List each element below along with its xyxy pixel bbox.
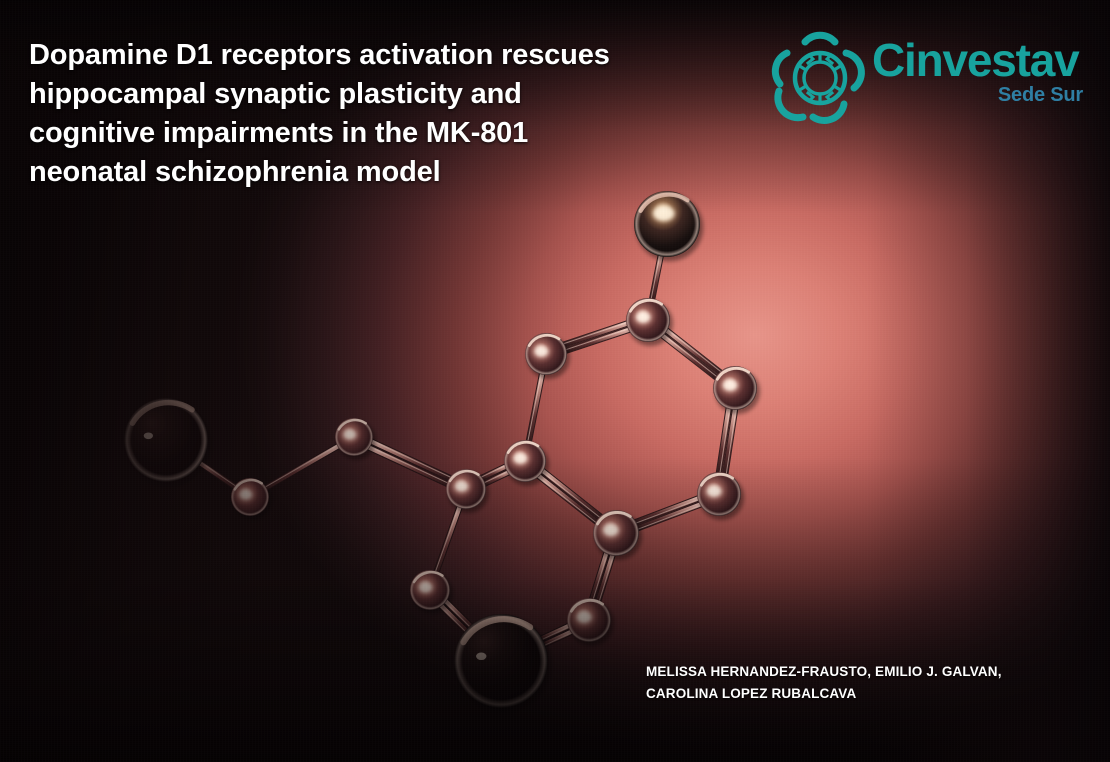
title-line-2: hippocampal synaptic plasticity and	[29, 75, 729, 114]
presentation-title-slide: Dopamine D1 receptors activation rescues…	[0, 0, 1110, 762]
cinvestav-logo: Cinvestav Sede Sur	[768, 24, 1086, 128]
cinvestav-emblem-icon	[768, 28, 872, 128]
title-line-4: neonatal schizophrenia model	[29, 153, 729, 192]
logo-name-text: Cinvestav	[872, 36, 1086, 84]
author-line-2: CAROLINA LOPEZ RUBALCAVA	[646, 683, 1066, 705]
title-line-1: Dopamine D1 receptors activation rescues	[29, 36, 729, 75]
title-line-3: cognitive impairments in the MK-801	[29, 114, 729, 153]
author-line-1: MELISSA HERNANDEZ-FRAUSTO, EMILIO J. GAL…	[646, 661, 1066, 683]
author-list: MELISSA HERNANDEZ-FRAUSTO, EMILIO J. GAL…	[646, 661, 1066, 705]
page-title: Dopamine D1 receptors activation rescues…	[29, 36, 729, 192]
cinvestav-wordmark: Cinvestav Sede Sur	[872, 36, 1086, 106]
logo-subtitle-text: Sede Sur	[872, 84, 1086, 106]
